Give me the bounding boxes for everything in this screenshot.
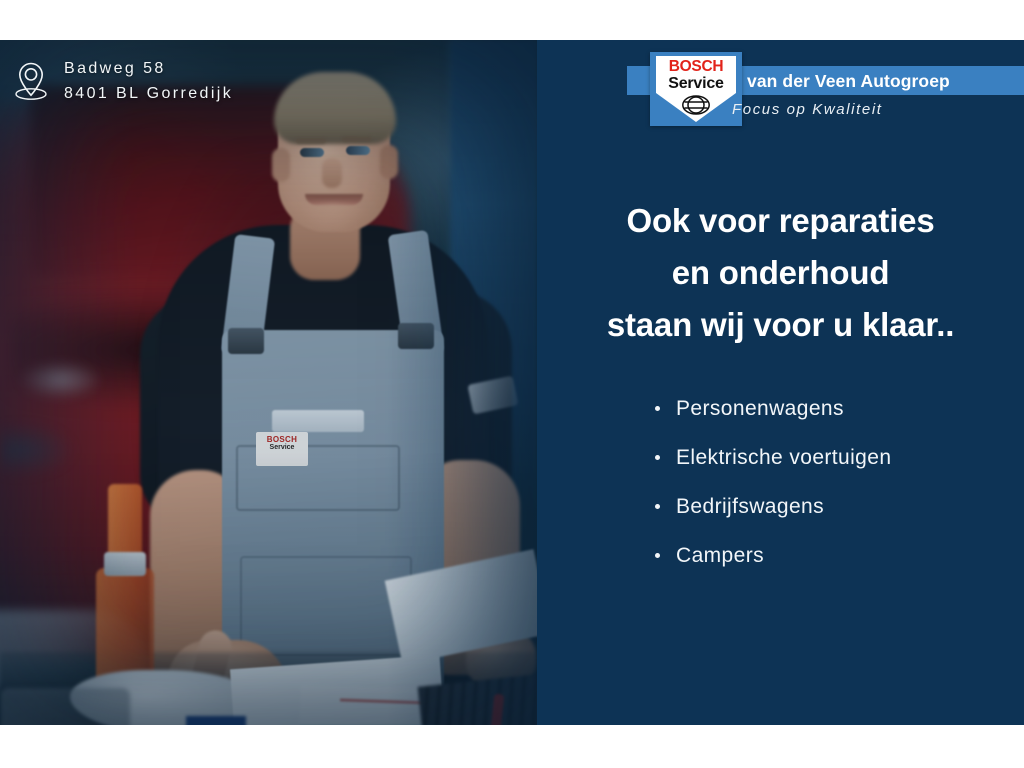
- list-item: Campers: [655, 539, 1015, 573]
- service-label: Campers: [676, 544, 764, 567]
- list-item: Elektrische voertuigen: [655, 441, 1015, 475]
- bosch-armature-icon: [681, 95, 711, 115]
- bullet-dot-icon: [655, 455, 660, 460]
- headline-line-2: en onderhoud: [537, 247, 1024, 299]
- service-wordmark: Service: [656, 75, 736, 93]
- address-lines: Badweg 58 8401 BL Gorredijk: [64, 56, 233, 106]
- service-label: Personenwagens: [676, 397, 844, 420]
- address-line-2: 8401 BL Gorredijk: [64, 81, 233, 106]
- bullet-dot-icon: [655, 504, 660, 509]
- bosch-wordmark: BOSCH: [656, 59, 736, 75]
- company-tagline: Focus op Kwaliteit: [732, 100, 883, 120]
- info-panel: BOSCH Service van der Veen Autogroep Foc…: [537, 40, 1024, 725]
- headline-line-1: Ook voor reparaties: [537, 195, 1024, 247]
- promo-banner: BOSCH Service Badweg 58 8401 B: [0, 40, 1024, 725]
- bosch-service-logo: BOSCH Service: [650, 52, 742, 126]
- service-label: Elektrische voertuigen: [676, 446, 891, 469]
- services-list: Personenwagens Elektrische voertuigen Be…: [655, 392, 1015, 588]
- headline: Ook voor reparaties en onderhoud staan w…: [537, 195, 1024, 351]
- photo-vignette: [0, 40, 537, 725]
- location-pin-icon: [14, 61, 48, 101]
- service-label: Bedrijfswagens: [676, 495, 824, 518]
- address-overlay: Badweg 58 8401 BL Gorredijk: [14, 56, 233, 106]
- list-item: Bedrijfswagens: [655, 490, 1015, 524]
- bullet-dot-icon: [655, 406, 660, 411]
- bullet-dot-icon: [655, 553, 660, 558]
- headline-line-3: staan wij voor u klaar..: [537, 299, 1024, 351]
- list-item: Personenwagens: [655, 392, 1015, 426]
- mechanic-photo: BOSCH Service: [0, 40, 537, 725]
- company-name: van der Veen Autogroep: [747, 69, 1017, 93]
- address-line-1: Badweg 58: [64, 56, 233, 81]
